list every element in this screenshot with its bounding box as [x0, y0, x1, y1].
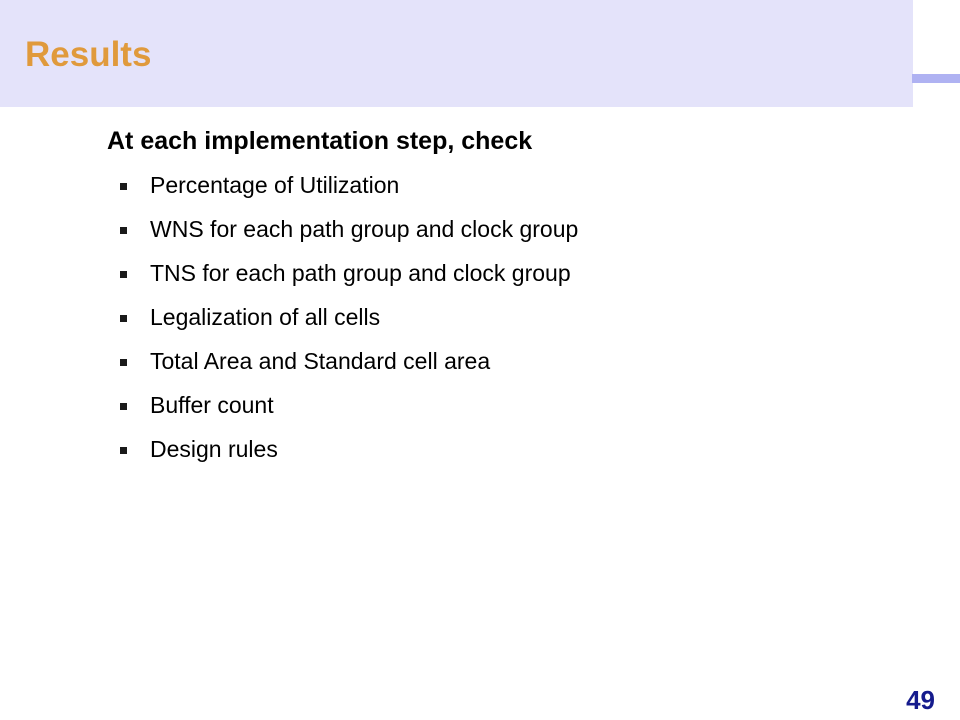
- bullet-list: Percentage of Utilization WNS for each p…: [107, 170, 907, 478]
- list-item-label: Percentage of Utilization: [150, 170, 399, 200]
- list-item-label: Buffer count: [150, 390, 274, 420]
- list-item: Percentage of Utilization: [107, 170, 907, 214]
- square-bullet-icon: [120, 183, 127, 190]
- slide-canvas: Results At each implementation step, che…: [0, 0, 960, 720]
- page-title: Results: [25, 34, 151, 75]
- list-item: Total Area and Standard cell area: [107, 346, 907, 390]
- list-item: WNS for each path group and clock group: [107, 214, 907, 258]
- list-item-label: Legalization of all cells: [150, 302, 380, 332]
- list-item-label: WNS for each path group and clock group: [150, 214, 578, 244]
- page-number: 49: [906, 685, 935, 715]
- list-item: Buffer count: [107, 390, 907, 434]
- list-item-label: Design rules: [150, 434, 278, 464]
- list-item: TNS for each path group and clock group: [107, 258, 907, 302]
- square-bullet-icon: [120, 227, 127, 234]
- square-bullet-icon: [120, 315, 127, 322]
- list-item-label: TNS for each path group and clock group: [150, 258, 571, 288]
- square-bullet-icon: [120, 271, 127, 278]
- lead-heading: At each implementation step, check: [107, 125, 532, 157]
- list-item: Design rules: [107, 434, 907, 478]
- square-bullet-icon: [120, 447, 127, 454]
- header-accent-bar: [912, 74, 960, 83]
- list-item-label: Total Area and Standard cell area: [150, 346, 490, 376]
- list-item: Legalization of all cells: [107, 302, 907, 346]
- slide-body: At each implementation step, check Perce…: [0, 107, 960, 667]
- square-bullet-icon: [120, 403, 127, 410]
- square-bullet-icon: [120, 359, 127, 366]
